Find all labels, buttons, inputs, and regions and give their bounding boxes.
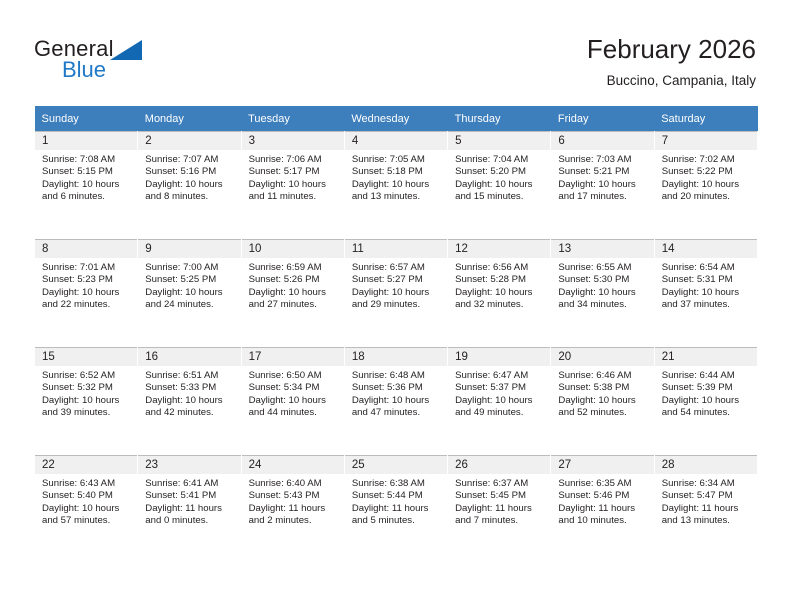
sunrise-text: Sunrise: 6:56 AM bbox=[455, 262, 544, 274]
day-number: 10 bbox=[242, 240, 344, 258]
day-cell: 7 Sunrise: 7:02 AM Sunset: 5:22 PM Dayli… bbox=[655, 132, 757, 239]
day-cell: 17 Sunrise: 6:50 AM Sunset: 5:34 PM Dayl… bbox=[242, 348, 344, 455]
day-details: Sunrise: 7:01 AM Sunset: 5:23 PM Dayligh… bbox=[35, 258, 137, 312]
daylight-text: Daylight: 10 hours and 42 minutes. bbox=[145, 395, 234, 420]
day-cell: 10 Sunrise: 6:59 AM Sunset: 5:26 PM Dayl… bbox=[242, 240, 344, 347]
day-details: Sunrise: 6:50 AM Sunset: 5:34 PM Dayligh… bbox=[242, 366, 344, 420]
day-details: Sunrise: 7:02 AM Sunset: 5:22 PM Dayligh… bbox=[655, 150, 757, 204]
day-number: 15 bbox=[35, 348, 137, 366]
sunrise-text: Sunrise: 7:02 AM bbox=[662, 154, 751, 166]
sunrise-text: Sunrise: 6:47 AM bbox=[455, 370, 544, 382]
daylight-text: Daylight: 10 hours and 29 minutes. bbox=[352, 287, 441, 312]
day-number: 2 bbox=[138, 132, 240, 150]
day-number: 17 bbox=[242, 348, 344, 366]
day-cell: 2 Sunrise: 7:07 AM Sunset: 5:16 PM Dayli… bbox=[138, 132, 240, 239]
sunset-text: Sunset: 5:28 PM bbox=[455, 274, 544, 286]
sunrise-text: Sunrise: 6:41 AM bbox=[145, 478, 234, 490]
day-details: Sunrise: 6:56 AM Sunset: 5:28 PM Dayligh… bbox=[448, 258, 550, 312]
day-details: Sunrise: 6:54 AM Sunset: 5:31 PM Dayligh… bbox=[655, 258, 757, 312]
day-cell: 4 Sunrise: 7:05 AM Sunset: 5:18 PM Dayli… bbox=[345, 132, 447, 239]
sunset-text: Sunset: 5:44 PM bbox=[352, 490, 441, 502]
day-details: Sunrise: 6:41 AM Sunset: 5:41 PM Dayligh… bbox=[138, 474, 240, 528]
day-number: 18 bbox=[345, 348, 447, 366]
calendar-cell[interactable]: 8 Sunrise: 7:01 AM Sunset: 5:23 PM Dayli… bbox=[35, 240, 138, 348]
day-number: 25 bbox=[345, 456, 447, 474]
sunrise-text: Sunrise: 6:34 AM bbox=[662, 478, 751, 490]
calendar-cell[interactable]: 16 Sunrise: 6:51 AM Sunset: 5:33 PM Dayl… bbox=[138, 348, 241, 456]
sunset-text: Sunset: 5:33 PM bbox=[145, 382, 234, 394]
calendar-week-row: 1 Sunrise: 7:08 AM Sunset: 5:15 PM Dayli… bbox=[35, 132, 758, 240]
weekday-header-saturday: Saturday bbox=[654, 106, 757, 132]
day-details: Sunrise: 6:34 AM Sunset: 5:47 PM Dayligh… bbox=[655, 474, 757, 528]
calendar-cell[interactable]: 17 Sunrise: 6:50 AM Sunset: 5:34 PM Dayl… bbox=[241, 348, 344, 456]
daylight-text: Daylight: 10 hours and 39 minutes. bbox=[42, 395, 131, 420]
day-details: Sunrise: 6:59 AM Sunset: 5:26 PM Dayligh… bbox=[242, 258, 344, 312]
day-details: Sunrise: 7:00 AM Sunset: 5:25 PM Dayligh… bbox=[138, 258, 240, 312]
page-title: February 2026 bbox=[587, 34, 756, 64]
sunrise-text: Sunrise: 6:38 AM bbox=[352, 478, 441, 490]
sunset-text: Sunset: 5:17 PM bbox=[249, 166, 338, 178]
calendar-cell[interactable]: 9 Sunrise: 7:00 AM Sunset: 5:25 PM Dayli… bbox=[138, 240, 241, 348]
day-details: Sunrise: 6:55 AM Sunset: 5:30 PM Dayligh… bbox=[551, 258, 653, 312]
sunset-text: Sunset: 5:22 PM bbox=[662, 166, 751, 178]
calendar-cell[interactable]: 11 Sunrise: 6:57 AM Sunset: 5:27 PM Dayl… bbox=[344, 240, 447, 348]
day-cell: 21 Sunrise: 6:44 AM Sunset: 5:39 PM Dayl… bbox=[655, 348, 757, 455]
sunrise-text: Sunrise: 6:57 AM bbox=[352, 262, 441, 274]
day-cell: 6 Sunrise: 7:03 AM Sunset: 5:21 PM Dayli… bbox=[551, 132, 653, 239]
day-number: 7 bbox=[655, 132, 757, 150]
day-number: 27 bbox=[551, 456, 653, 474]
daylight-text: Daylight: 10 hours and 27 minutes. bbox=[249, 287, 338, 312]
daylight-text: Daylight: 10 hours and 6 minutes. bbox=[42, 179, 131, 204]
calendar-cell[interactable]: 4 Sunrise: 7:05 AM Sunset: 5:18 PM Dayli… bbox=[344, 132, 447, 240]
sunset-text: Sunset: 5:34 PM bbox=[249, 382, 338, 394]
daylight-text: Daylight: 11 hours and 10 minutes. bbox=[558, 503, 647, 528]
day-number: 9 bbox=[138, 240, 240, 258]
calendar-cell[interactable]: 19 Sunrise: 6:47 AM Sunset: 5:37 PM Dayl… bbox=[448, 348, 551, 456]
daylight-text: Daylight: 10 hours and 17 minutes. bbox=[558, 179, 647, 204]
calendar-page: General Blue February 2026 Buccino, Camp… bbox=[0, 0, 792, 612]
sunrise-text: Sunrise: 6:46 AM bbox=[558, 370, 647, 382]
day-details: Sunrise: 6:52 AM Sunset: 5:32 PM Dayligh… bbox=[35, 366, 137, 420]
daylight-text: Daylight: 10 hours and 49 minutes. bbox=[455, 395, 544, 420]
sunset-text: Sunset: 5:43 PM bbox=[249, 490, 338, 502]
sunset-text: Sunset: 5:26 PM bbox=[249, 274, 338, 286]
sunset-text: Sunset: 5:37 PM bbox=[455, 382, 544, 394]
day-cell: 1 Sunrise: 7:08 AM Sunset: 5:15 PM Dayli… bbox=[35, 132, 137, 239]
sunset-text: Sunset: 5:40 PM bbox=[42, 490, 131, 502]
daylight-text: Daylight: 10 hours and 20 minutes. bbox=[662, 179, 751, 204]
daylight-text: Daylight: 10 hours and 15 minutes. bbox=[455, 179, 544, 204]
daylight-text: Daylight: 10 hours and 24 minutes. bbox=[145, 287, 234, 312]
day-details: Sunrise: 7:04 AM Sunset: 5:20 PM Dayligh… bbox=[448, 150, 550, 204]
day-cell: 11 Sunrise: 6:57 AM Sunset: 5:27 PM Dayl… bbox=[345, 240, 447, 347]
sunset-text: Sunset: 5:31 PM bbox=[662, 274, 751, 286]
calendar-cell[interactable]: 27 Sunrise: 6:35 AM Sunset: 5:46 PM Dayl… bbox=[551, 456, 654, 564]
daylight-text: Daylight: 10 hours and 57 minutes. bbox=[42, 503, 131, 528]
day-cell: 26 Sunrise: 6:37 AM Sunset: 5:45 PM Dayl… bbox=[448, 456, 550, 563]
generalblue-logo[interactable]: General Blue bbox=[34, 36, 234, 88]
day-cell: 19 Sunrise: 6:47 AM Sunset: 5:37 PM Dayl… bbox=[448, 348, 550, 455]
sunset-text: Sunset: 5:21 PM bbox=[558, 166, 647, 178]
day-number: 4 bbox=[345, 132, 447, 150]
day-details: Sunrise: 6:48 AM Sunset: 5:36 PM Dayligh… bbox=[345, 366, 447, 420]
day-details: Sunrise: 7:08 AM Sunset: 5:15 PM Dayligh… bbox=[35, 150, 137, 204]
calendar-week-row: 15 Sunrise: 6:52 AM Sunset: 5:32 PM Dayl… bbox=[35, 348, 758, 456]
day-details: Sunrise: 6:51 AM Sunset: 5:33 PM Dayligh… bbox=[138, 366, 240, 420]
day-cell: 15 Sunrise: 6:52 AM Sunset: 5:32 PM Dayl… bbox=[35, 348, 137, 455]
sunset-text: Sunset: 5:41 PM bbox=[145, 490, 234, 502]
day-cell: 5 Sunrise: 7:04 AM Sunset: 5:20 PM Dayli… bbox=[448, 132, 550, 239]
sunrise-text: Sunrise: 6:59 AM bbox=[249, 262, 338, 274]
calendar-cell[interactable]: 2 Sunrise: 7:07 AM Sunset: 5:16 PM Dayli… bbox=[138, 132, 241, 240]
calendar-cell[interactable]: 5 Sunrise: 7:04 AM Sunset: 5:20 PM Dayli… bbox=[448, 132, 551, 240]
sunrise-text: Sunrise: 6:48 AM bbox=[352, 370, 441, 382]
day-details: Sunrise: 7:03 AM Sunset: 5:21 PM Dayligh… bbox=[551, 150, 653, 204]
day-details: Sunrise: 6:57 AM Sunset: 5:27 PM Dayligh… bbox=[345, 258, 447, 312]
calendar-table: Sunday Monday Tuesday Wednesday Thursday… bbox=[34, 106, 758, 563]
day-details: Sunrise: 6:38 AM Sunset: 5:44 PM Dayligh… bbox=[345, 474, 447, 528]
calendar-body: 1 Sunrise: 7:08 AM Sunset: 5:15 PM Dayli… bbox=[35, 132, 758, 564]
sunrise-text: Sunrise: 6:35 AM bbox=[558, 478, 647, 490]
day-details: Sunrise: 6:46 AM Sunset: 5:38 PM Dayligh… bbox=[551, 366, 653, 420]
calendar-cell[interactable]: 20 Sunrise: 6:46 AM Sunset: 5:38 PM Dayl… bbox=[551, 348, 654, 456]
daylight-text: Daylight: 10 hours and 13 minutes. bbox=[352, 179, 441, 204]
day-cell: 16 Sunrise: 6:51 AM Sunset: 5:33 PM Dayl… bbox=[138, 348, 240, 455]
day-number: 24 bbox=[242, 456, 344, 474]
day-number: 16 bbox=[138, 348, 240, 366]
sunset-text: Sunset: 5:47 PM bbox=[662, 490, 751, 502]
day-details: Sunrise: 6:35 AM Sunset: 5:46 PM Dayligh… bbox=[551, 474, 653, 528]
day-number: 3 bbox=[242, 132, 344, 150]
day-details: Sunrise: 7:07 AM Sunset: 5:16 PM Dayligh… bbox=[138, 150, 240, 204]
calendar-cell[interactable]: 10 Sunrise: 6:59 AM Sunset: 5:26 PM Dayl… bbox=[241, 240, 344, 348]
day-number: 28 bbox=[655, 456, 757, 474]
sunset-text: Sunset: 5:36 PM bbox=[352, 382, 441, 394]
sunrise-text: Sunrise: 6:50 AM bbox=[249, 370, 338, 382]
day-number: 5 bbox=[448, 132, 550, 150]
daylight-text: Daylight: 10 hours and 54 minutes. bbox=[662, 395, 751, 420]
calendar-cell[interactable]: 1 Sunrise: 7:08 AM Sunset: 5:15 PM Dayli… bbox=[35, 132, 138, 240]
weekday-header-friday: Friday bbox=[551, 106, 654, 132]
sunset-text: Sunset: 5:20 PM bbox=[455, 166, 544, 178]
day-number: 8 bbox=[35, 240, 137, 258]
calendar-cell[interactable]: 13 Sunrise: 6:55 AM Sunset: 5:30 PM Dayl… bbox=[551, 240, 654, 348]
sunset-text: Sunset: 5:46 PM bbox=[558, 490, 647, 502]
sunset-text: Sunset: 5:39 PM bbox=[662, 382, 751, 394]
sunset-text: Sunset: 5:38 PM bbox=[558, 382, 647, 394]
sunrise-text: Sunrise: 6:40 AM bbox=[249, 478, 338, 490]
calendar-week-row: 8 Sunrise: 7:01 AM Sunset: 5:23 PM Dayli… bbox=[35, 240, 758, 348]
sunrise-text: Sunrise: 7:05 AM bbox=[352, 154, 441, 166]
daylight-text: Daylight: 11 hours and 0 minutes. bbox=[145, 503, 234, 528]
daylight-text: Daylight: 10 hours and 8 minutes. bbox=[145, 179, 234, 204]
sunset-text: Sunset: 5:15 PM bbox=[42, 166, 131, 178]
day-cell: 28 Sunrise: 6:34 AM Sunset: 5:47 PM Dayl… bbox=[655, 456, 757, 563]
calendar-cell[interactable]: 7 Sunrise: 7:02 AM Sunset: 5:22 PM Dayli… bbox=[654, 132, 757, 240]
sunrise-text: Sunrise: 6:52 AM bbox=[42, 370, 131, 382]
sunrise-text: Sunrise: 7:03 AM bbox=[558, 154, 647, 166]
daylight-text: Daylight: 10 hours and 11 minutes. bbox=[249, 179, 338, 204]
sunset-text: Sunset: 5:45 PM bbox=[455, 490, 544, 502]
weekday-header-monday: Monday bbox=[138, 106, 241, 132]
daylight-text: Daylight: 11 hours and 7 minutes. bbox=[455, 503, 544, 528]
title-block: February 2026 Buccino, Campania, Italy bbox=[587, 34, 756, 89]
calendar-cell[interactable]: 12 Sunrise: 6:56 AM Sunset: 5:28 PM Dayl… bbox=[448, 240, 551, 348]
calendar-cell[interactable]: 6 Sunrise: 7:03 AM Sunset: 5:21 PM Dayli… bbox=[551, 132, 654, 240]
weekday-header-sunday: Sunday bbox=[35, 106, 138, 132]
sunset-text: Sunset: 5:16 PM bbox=[145, 166, 234, 178]
calendar-cell[interactable]: 18 Sunrise: 6:48 AM Sunset: 5:36 PM Dayl… bbox=[344, 348, 447, 456]
day-number: 20 bbox=[551, 348, 653, 366]
sunrise-text: Sunrise: 6:51 AM bbox=[145, 370, 234, 382]
day-cell: 25 Sunrise: 6:38 AM Sunset: 5:44 PM Dayl… bbox=[345, 456, 447, 563]
calendar-cell[interactable]: 21 Sunrise: 6:44 AM Sunset: 5:39 PM Dayl… bbox=[654, 348, 757, 456]
daylight-text: Daylight: 10 hours and 37 minutes. bbox=[662, 287, 751, 312]
daylight-text: Daylight: 11 hours and 2 minutes. bbox=[249, 503, 338, 528]
sunrise-text: Sunrise: 7:08 AM bbox=[42, 154, 131, 166]
logo-text-blue: Blue bbox=[62, 57, 106, 83]
day-number: 11 bbox=[345, 240, 447, 258]
day-details: Sunrise: 6:43 AM Sunset: 5:40 PM Dayligh… bbox=[35, 474, 137, 528]
calendar-cell[interactable]: 24 Sunrise: 6:40 AM Sunset: 5:43 PM Dayl… bbox=[241, 456, 344, 564]
sunset-text: Sunset: 5:23 PM bbox=[42, 274, 131, 286]
sunrise-text: Sunrise: 6:37 AM bbox=[455, 478, 544, 490]
day-number: 13 bbox=[551, 240, 653, 258]
daylight-text: Daylight: 11 hours and 13 minutes. bbox=[662, 503, 751, 528]
day-number: 23 bbox=[138, 456, 240, 474]
weekday-header-wednesday: Wednesday bbox=[344, 106, 447, 132]
day-cell: 14 Sunrise: 6:54 AM Sunset: 5:31 PM Dayl… bbox=[655, 240, 757, 347]
sunset-text: Sunset: 5:25 PM bbox=[145, 274, 234, 286]
day-details: Sunrise: 6:37 AM Sunset: 5:45 PM Dayligh… bbox=[448, 474, 550, 528]
page-subtitle: Buccino, Campania, Italy bbox=[587, 73, 756, 89]
day-cell: 8 Sunrise: 7:01 AM Sunset: 5:23 PM Dayli… bbox=[35, 240, 137, 347]
calendar-cell[interactable]: 14 Sunrise: 6:54 AM Sunset: 5:31 PM Dayl… bbox=[654, 240, 757, 348]
daylight-text: Daylight: 10 hours and 44 minutes. bbox=[249, 395, 338, 420]
day-cell: 23 Sunrise: 6:41 AM Sunset: 5:41 PM Dayl… bbox=[138, 456, 240, 563]
calendar-cell[interactable]: 3 Sunrise: 7:06 AM Sunset: 5:17 PM Dayli… bbox=[241, 132, 344, 240]
day-details: Sunrise: 6:44 AM Sunset: 5:39 PM Dayligh… bbox=[655, 366, 757, 420]
day-number: 26 bbox=[448, 456, 550, 474]
sunrise-text: Sunrise: 7:06 AM bbox=[249, 154, 338, 166]
daylight-text: Daylight: 11 hours and 5 minutes. bbox=[352, 503, 441, 528]
day-number: 14 bbox=[655, 240, 757, 258]
day-number: 22 bbox=[35, 456, 137, 474]
day-details: Sunrise: 6:40 AM Sunset: 5:43 PM Dayligh… bbox=[242, 474, 344, 528]
day-number: 19 bbox=[448, 348, 550, 366]
sunrise-text: Sunrise: 7:07 AM bbox=[145, 154, 234, 166]
day-cell: 12 Sunrise: 6:56 AM Sunset: 5:28 PM Dayl… bbox=[448, 240, 550, 347]
day-details: Sunrise: 6:47 AM Sunset: 5:37 PM Dayligh… bbox=[448, 366, 550, 420]
calendar-cell[interactable]: 23 Sunrise: 6:41 AM Sunset: 5:41 PM Dayl… bbox=[138, 456, 241, 564]
sunset-text: Sunset: 5:32 PM bbox=[42, 382, 131, 394]
logo-triangle-icon bbox=[110, 40, 142, 60]
day-cell: 13 Sunrise: 6:55 AM Sunset: 5:30 PM Dayl… bbox=[551, 240, 653, 347]
day-details: Sunrise: 7:06 AM Sunset: 5:17 PM Dayligh… bbox=[242, 150, 344, 204]
calendar-cell[interactable]: 25 Sunrise: 6:38 AM Sunset: 5:44 PM Dayl… bbox=[344, 456, 447, 564]
calendar-week-row: 22 Sunrise: 6:43 AM Sunset: 5:40 PM Dayl… bbox=[35, 456, 758, 564]
calendar-cell[interactable]: 15 Sunrise: 6:52 AM Sunset: 5:32 PM Dayl… bbox=[35, 348, 138, 456]
page-header: General Blue February 2026 Buccino, Camp… bbox=[0, 0, 792, 100]
day-number: 21 bbox=[655, 348, 757, 366]
calendar-cell[interactable]: 26 Sunrise: 6:37 AM Sunset: 5:45 PM Dayl… bbox=[448, 456, 551, 564]
sunset-text: Sunset: 5:27 PM bbox=[352, 274, 441, 286]
day-details: Sunrise: 7:05 AM Sunset: 5:18 PM Dayligh… bbox=[345, 150, 447, 204]
day-cell: 27 Sunrise: 6:35 AM Sunset: 5:46 PM Dayl… bbox=[551, 456, 653, 563]
day-cell: 9 Sunrise: 7:00 AM Sunset: 5:25 PM Dayli… bbox=[138, 240, 240, 347]
daylight-text: Daylight: 10 hours and 22 minutes. bbox=[42, 287, 131, 312]
day-cell: 3 Sunrise: 7:06 AM Sunset: 5:17 PM Dayli… bbox=[242, 132, 344, 239]
day-number: 12 bbox=[448, 240, 550, 258]
daylight-text: Daylight: 10 hours and 47 minutes. bbox=[352, 395, 441, 420]
calendar-cell[interactable]: 28 Sunrise: 6:34 AM Sunset: 5:47 PM Dayl… bbox=[654, 456, 757, 564]
day-cell: 20 Sunrise: 6:46 AM Sunset: 5:38 PM Dayl… bbox=[551, 348, 653, 455]
sunrise-text: Sunrise: 6:44 AM bbox=[662, 370, 751, 382]
weekday-header-thursday: Thursday bbox=[448, 106, 551, 132]
day-number: 6 bbox=[551, 132, 653, 150]
day-cell: 22 Sunrise: 6:43 AM Sunset: 5:40 PM Dayl… bbox=[35, 456, 137, 563]
day-cell: 24 Sunrise: 6:40 AM Sunset: 5:43 PM Dayl… bbox=[242, 456, 344, 563]
daylight-text: Daylight: 10 hours and 32 minutes. bbox=[455, 287, 544, 312]
sunrise-text: Sunrise: 6:54 AM bbox=[662, 262, 751, 274]
sunrise-text: Sunrise: 6:55 AM bbox=[558, 262, 647, 274]
day-number: 1 bbox=[35, 132, 137, 150]
sunrise-text: Sunrise: 7:00 AM bbox=[145, 262, 234, 274]
calendar-header-row: Sunday Monday Tuesday Wednesday Thursday… bbox=[35, 106, 758, 132]
sunset-text: Sunset: 5:18 PM bbox=[352, 166, 441, 178]
day-cell: 18 Sunrise: 6:48 AM Sunset: 5:36 PM Dayl… bbox=[345, 348, 447, 455]
sunset-text: Sunset: 5:30 PM bbox=[558, 274, 647, 286]
daylight-text: Daylight: 10 hours and 34 minutes. bbox=[558, 287, 647, 312]
daylight-text: Daylight: 10 hours and 52 minutes. bbox=[558, 395, 647, 420]
sunrise-text: Sunrise: 7:04 AM bbox=[455, 154, 544, 166]
sunrise-text: Sunrise: 7:01 AM bbox=[42, 262, 131, 274]
calendar-cell[interactable]: 22 Sunrise: 6:43 AM Sunset: 5:40 PM Dayl… bbox=[35, 456, 138, 564]
sunrise-text: Sunrise: 6:43 AM bbox=[42, 478, 131, 490]
weekday-header-tuesday: Tuesday bbox=[241, 106, 344, 132]
